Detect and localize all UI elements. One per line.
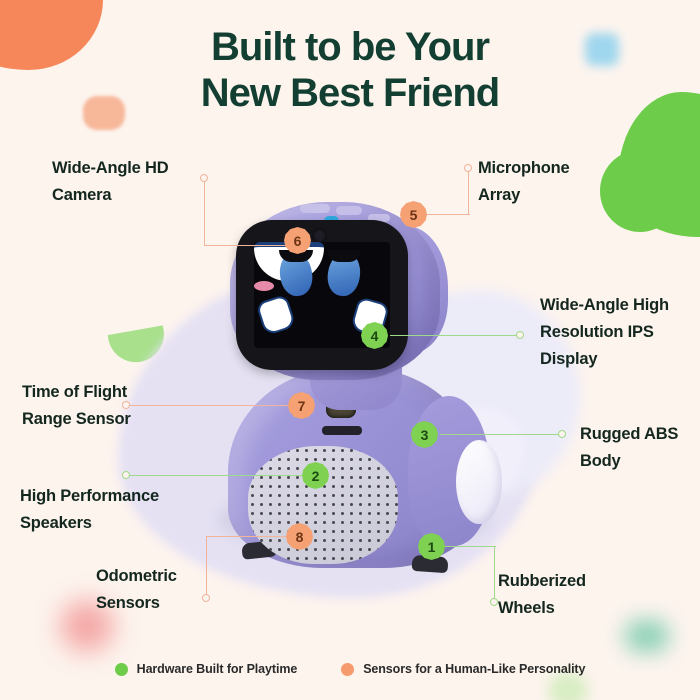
legend-label-sensors: Sensors for a Human-Like Personality — [363, 662, 585, 676]
legend-dot-green-icon — [115, 663, 128, 676]
callout-label-6: Wide-Angle HD Camera — [52, 155, 168, 209]
legend-item-sensors: Sensors for a Human-Like Personality — [341, 662, 585, 676]
infographic-canvas: Built to be Your New Best Friend — [0, 0, 700, 700]
page-title: Built to be Your New Best Friend — [0, 24, 700, 116]
legend-dot-orange-icon — [341, 663, 354, 676]
callout-label-4-line-3: Display — [540, 346, 669, 373]
connector-2-endpoint — [122, 471, 130, 479]
page-title-line-2: New Best Friend — [0, 70, 700, 116]
legend: Hardware Built for Playtime Sensors for … — [0, 662, 700, 676]
callout-label-1-line-2: Wheels — [498, 595, 586, 622]
callout-label-1: Rubberized Wheels — [498, 568, 586, 622]
callout-label-4: Wide-Angle High Resolution IPS Display — [540, 292, 669, 373]
callout-label-8-line-1: Odometric — [96, 563, 177, 590]
connector-1-endpoint — [490, 598, 498, 606]
robot-speaker-mesh — [248, 446, 398, 564]
callout-label-7-line-1: Time of Flight — [22, 379, 131, 406]
connector-5-endpoint — [464, 164, 472, 172]
robot-camera-lens — [312, 228, 327, 243]
robot-speaker-grille — [248, 446, 398, 564]
callout-label-5: Microphone Array — [478, 155, 570, 209]
callout-label-5-line-1: Microphone — [478, 155, 570, 182]
callout-label-1-line-1: Rubberized — [498, 568, 586, 595]
callout-label-3: Rugged ABS Body — [580, 421, 678, 475]
robot-wheel-right — [456, 440, 502, 524]
callout-label-6-line-2: Camera — [52, 182, 168, 209]
legend-label-hardware: Hardware Built for Playtime — [137, 662, 298, 676]
face-tongue — [254, 281, 274, 291]
decor-blob-green-bottom-right — [548, 672, 588, 700]
callout-label-2-line-2: Speakers — [20, 510, 159, 537]
callout-label-4-line-2: Resolution IPS — [540, 319, 669, 346]
robot-microphone-port-2 — [336, 206, 362, 215]
connector-6-endpoint — [200, 174, 208, 182]
product-illustration-robot — [190, 190, 510, 590]
page-title-line-1: Built to be Your — [0, 24, 700, 70]
decor-blob-teal-bottom-right — [625, 620, 669, 652]
legend-item-hardware: Hardware Built for Playtime — [115, 662, 298, 676]
callout-label-3-line-2: Body — [580, 448, 678, 475]
callout-label-6-line-1: Wide-Angle HD — [52, 155, 168, 182]
decor-blob-green-left — [108, 325, 169, 366]
callout-label-8-line-2: Sensors — [96, 590, 177, 617]
robot-sensor-slot — [322, 426, 362, 435]
robot-microphone-port-1 — [300, 204, 330, 213]
connector-3-endpoint — [558, 430, 566, 438]
callout-label-8: Odometric Sensors — [96, 563, 177, 617]
callout-label-7: Time of Flight Range Sensor — [22, 379, 131, 433]
callout-label-7-line-2: Range Sensor — [22, 406, 131, 433]
face-hand-left — [256, 294, 297, 336]
connector-4-endpoint — [516, 331, 524, 339]
connector-8-endpoint — [202, 594, 210, 602]
callout-label-2: High Performance Speakers — [20, 483, 159, 537]
decor-blob-green-top-right-2 — [600, 150, 680, 232]
callout-label-3-line-1: Rugged ABS — [580, 421, 678, 448]
callout-label-4-line-1: Wide-Angle High — [540, 292, 669, 319]
callout-label-5-line-2: Array — [478, 182, 570, 209]
callout-label-2-line-1: High Performance — [20, 483, 159, 510]
